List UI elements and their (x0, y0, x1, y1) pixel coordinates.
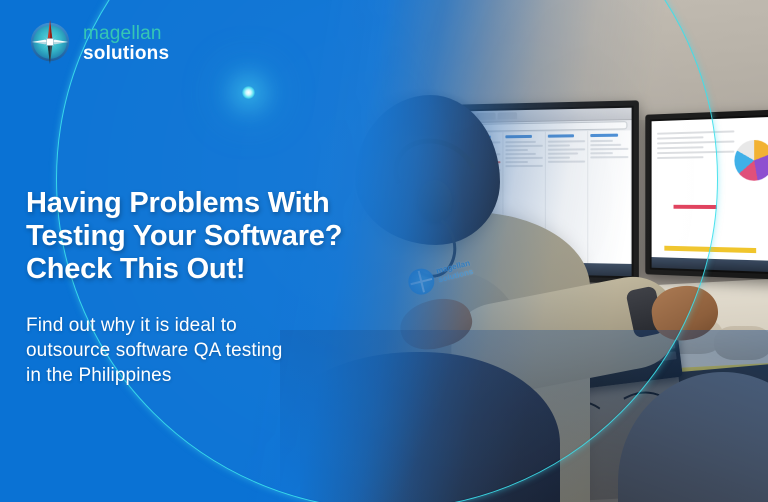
promo-banner: magellan solutions (0, 0, 768, 502)
brand-name-top: magellan (83, 24, 169, 43)
brand-name-bottom: solutions (83, 44, 169, 63)
brand-logo[interactable]: magellan solutions (26, 18, 169, 66)
page-subtitle: Find out why it is ideal to outsource so… (26, 313, 282, 388)
page-title: Having Problems With Testing Your Softwa… (26, 187, 342, 286)
compass-rose-icon (26, 18, 74, 66)
brand-logo-text: magellan solutions (83, 22, 169, 63)
banner-content: magellan solutions Having Problems With … (0, 0, 768, 502)
